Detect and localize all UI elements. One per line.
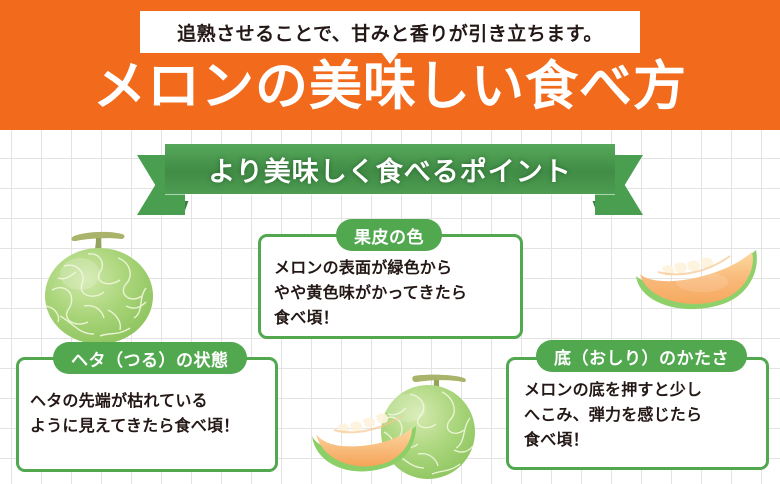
card-bottom-firmness-line-2: へこみ、弾力を感じたら: [524, 402, 702, 427]
card-bottom-firmness-pill: 底（おしり）のかたさ: [536, 340, 747, 372]
card-stem-condition-line-2: ように見えてきたら食べ頃！: [30, 413, 239, 438]
card-peel-color-line-2: やや黄色味がかってきたら: [274, 280, 467, 305]
section-ribbon: より美味しく食べるポイント: [165, 144, 615, 194]
card-peel-color-line-3: 食べ頃！: [274, 305, 467, 330]
card-peel-color-pill: 果皮の色: [336, 219, 442, 251]
card-peel-color-line-1: メロンの表面が緑色から: [274, 255, 467, 280]
card-bottom-firmness-body: メロンの底を押すと少し へこみ、弾力を感じたら 食べ頃！: [524, 377, 702, 452]
ribbon-label: より美味しく食べるポイント: [208, 150, 571, 189]
card-stem-condition-body: ヘタの先端が枯れている ように見えてきたら食べ頃！: [30, 388, 239, 438]
infographic-page: 追熟させることで、甘みと香りが引き立ちます。 メロンの美味しい食べ方 より美味し…: [0, 0, 780, 484]
melon-slice-wedge-icon: [632, 232, 762, 314]
card-bottom-firmness-line-1: メロンの底を押すと少し: [524, 377, 702, 402]
header-bubble-text: 追熟させることで、甘みと香りが引き立ちます。: [177, 19, 603, 46]
whole-melon-and-slice-icon: [306, 374, 486, 484]
card-bottom-firmness-line-3: 食べ頃！: [524, 427, 702, 452]
header-speech-bubble: 追熟させることで、甘みと香りが引き立ちます。: [140, 11, 640, 53]
card-stem-condition-pill: ヘタ（つる）の状態: [53, 342, 247, 374]
card-bottom-firmness-pill-label: 底（おしり）のかたさ: [554, 344, 729, 369]
card-stem-condition-line-1: ヘタの先端が枯れている: [30, 388, 239, 413]
card-peel-color-pill-label: 果皮の色: [354, 223, 424, 248]
header-banner: 追熟させることで、甘みと香りが引き立ちます。 メロンの美味しい食べ方: [0, 0, 780, 130]
card-peel-color-body: メロンの表面が緑色から やや黄色味がかってきたら 食べ頃！: [274, 255, 467, 330]
page-title: メロンの美味しい食べ方: [0, 56, 780, 118]
card-stem-condition-pill-label: ヘタ（つる）の状態: [71, 346, 229, 371]
whole-melon-with-stem-icon: [38, 218, 160, 346]
